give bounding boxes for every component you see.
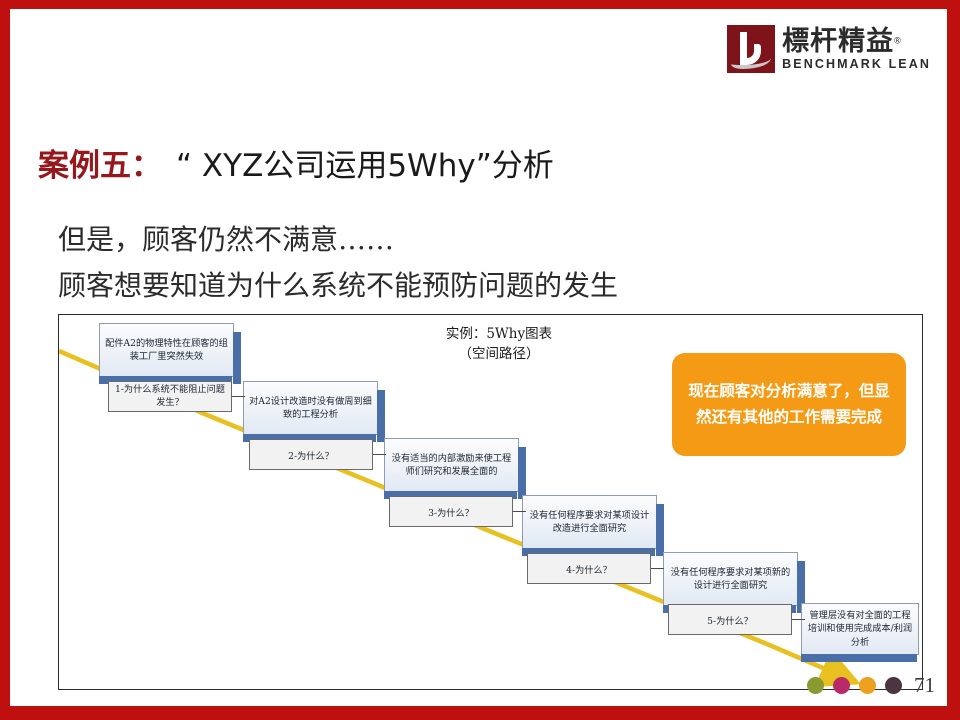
case-label: 案例五： [38, 140, 162, 185]
five-why-diagram-frame: 实例：5Why图表 （空间路径） 配件A2的物理特性在顾客的组装工厂里突然失效 … [58, 314, 923, 690]
subhead-line-1: 但是，顾客仍然不满意…… [58, 218, 394, 258]
cause-box-text: 没有适当的内部激励来使工程师们研究和发展全面的 [389, 452, 514, 478]
slide-canvas: 標杆精益® BENCHMARK LEAN 案例五： “ XYZ公司运用5Why”… [10, 9, 947, 706]
callout-box[interactable]: 现在顾客对分析满意了，但显然还有其他的工作需要完成 [672, 353, 906, 456]
brand-logo-text: 標杆精益® BENCHMARK LEAN [782, 28, 931, 71]
callout-text: 现在顾客对分析满意了，但显然还有其他的工作需要完成 [686, 379, 892, 429]
subhead-line-2: 顾客想要知道为什么系统不能预防问题的发生 [58, 264, 618, 304]
cause-box[interactable]: 管理层没有对全面的工程培训和使用完成成本/利润分析 [801, 603, 919, 655]
why-box-label: 5-为什么？ [707, 613, 753, 627]
connector-line [651, 568, 664, 569]
cause-box-text: 管理层没有对全面的工程培训和使用完成成本/利润分析 [806, 609, 914, 648]
cause-box-text: 没有任何程序要求对某项新的设计进行全面研究 [668, 566, 793, 592]
benchmark-lean-mark-icon [727, 25, 775, 73]
cause-box[interactable]: 没有任何程序要求对某项设计改造进行全面研究 [522, 495, 657, 549]
why-box-label: 4-为什么？ [566, 562, 612, 576]
diagram-title-line-1: 实例：5Why图表 [389, 324, 609, 344]
why-box[interactable]: 3-为什么？ [389, 496, 513, 527]
why-box-label: 1-为什么系统不能阻止问题发生？ [112, 384, 228, 410]
cause-box[interactable]: 没有适当的内部激励来使工程师们研究和发展全面的 [384, 438, 519, 492]
diagram-title: 实例：5Why图表 （空间路径） [389, 324, 609, 365]
case-title: “ XYZ公司运用5Why”分析 [176, 140, 554, 185]
page-title: 案例五： “ XYZ公司运用5Why”分析 [38, 140, 554, 185]
footer: 71 [807, 673, 935, 698]
cause-box-text: 配件A2的物理特性在顾客的组装工厂里突然失效 [104, 337, 229, 363]
dot-magenta [833, 677, 850, 694]
cause-box[interactable]: 对A2设计改造时没有做周到细致的工程分析 [243, 381, 378, 435]
cause-box[interactable]: 配件A2的物理特性在顾客的组装工厂里突然失效 [99, 323, 234, 377]
cause-box-text: 没有任何程序要求对某项设计改造进行全面研究 [527, 509, 652, 535]
why-box-label: 2-为什么？ [288, 448, 334, 462]
connector-line [232, 396, 245, 397]
connector-line [373, 454, 386, 455]
dot-plum [885, 677, 902, 694]
cause-box[interactable]: 没有任何程序要求对某项新的设计进行全面研究 [663, 552, 798, 606]
dot-green [807, 677, 824, 694]
page-number: 71 [914, 673, 935, 698]
why-box[interactable]: 1-为什么系统不能阻止问题发生？ [108, 381, 232, 412]
cause-box-text: 对A2设计改造时没有做周到细致的工程分析 [248, 395, 373, 421]
dot-amber [859, 677, 876, 694]
diagram-title-line-2: （空间路径） [389, 344, 609, 364]
brand-logo: 標杆精益® BENCHMARK LEAN [727, 25, 931, 73]
connector-line [513, 511, 526, 512]
connector-line [792, 619, 805, 620]
registered-mark: ® [894, 35, 901, 45]
why-box[interactable]: 5-为什么？ [668, 604, 792, 635]
brand-name-cn: 標杆精益 [782, 28, 894, 55]
why-box[interactable]: 2-为什么？ [249, 439, 373, 470]
why-box[interactable]: 4-为什么？ [527, 553, 651, 584]
why-box-label: 3-为什么？ [428, 505, 474, 519]
brand-name-en: BENCHMARK LEAN [782, 58, 931, 71]
